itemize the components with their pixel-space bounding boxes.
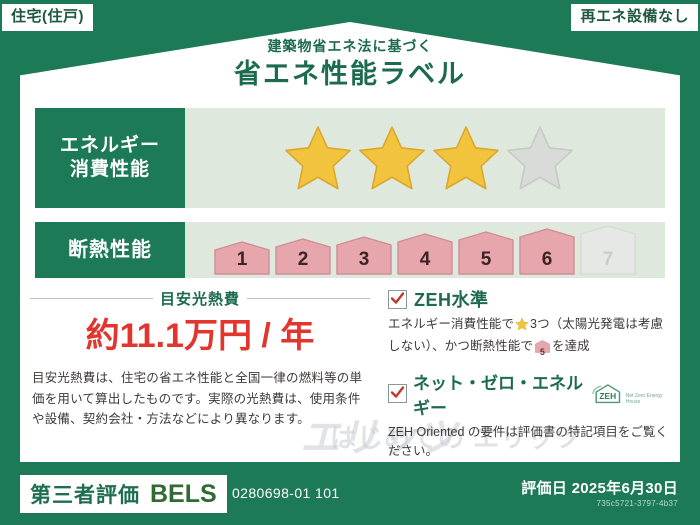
insulation-level-number: 6 [517, 249, 577, 271]
star-icon-filled [282, 123, 354, 193]
insulation-level-number: 1 [212, 249, 272, 271]
insulation-performance-label: 断熱性能 [35, 222, 185, 278]
star-icon-empty [504, 123, 576, 193]
building-type-tag: 住宅(住戸) [2, 4, 93, 31]
label-title: 建築物省エネ法に基づく 省エネ性能ラベル [0, 38, 700, 90]
insulation-performance-row: 断熱性能 1234567 [35, 222, 665, 278]
insulation-scale: 1234567 [185, 222, 665, 278]
insulation-level-number: 5 [456, 249, 516, 271]
zeh-logo-icon: ZEH Net Zero Energy House [591, 381, 670, 407]
evaluation-date: 評価日 2025年6月30日 [521, 477, 678, 498]
utility-cost-value: 約11.1万円 / 年 [30, 308, 370, 357]
bels-registration-number: 0280698-01 101 [232, 485, 340, 501]
zeh-logo-text: ZEH [600, 391, 617, 401]
energy-performance-label: エネルギー 消費性能 [35, 108, 185, 208]
utility-cost-heading-text: 目安光熱費 [160, 288, 240, 309]
inline-house-number: 5 [535, 346, 550, 360]
insulation-level-number: 2 [273, 249, 333, 271]
bels-jp-label: 第三者評価 [30, 479, 140, 509]
star-icon-filled [430, 123, 502, 193]
insulation-level-marker: 3 [334, 236, 394, 275]
energy-performance-row: エネルギー 消費性能 [35, 108, 665, 208]
insulation-level-number: 4 [395, 249, 455, 271]
zeh-logo-subtext: Net Zero Energy House [626, 394, 670, 407]
insulation-level-marker: 4 [395, 233, 455, 275]
insulation-house-row: 1234567 [212, 225, 638, 275]
energy-star-rating [185, 108, 665, 208]
zeh-standard-description: エネルギー消費性能で3つ（太陽光発電は考慮しない）、かつ断熱性能で5を達成 [388, 315, 670, 360]
star-icon-filled [356, 123, 428, 193]
evaluation-serial: 735c5721-3797-4b37 [597, 499, 678, 508]
renewable-equipment-tag: 再エネ設備なし [571, 4, 698, 31]
title-main: 省エネ性能ラベル [0, 59, 700, 90]
energy-performance-label: 住宅(住戸) 再エネ設備なし 建築物省エネ法に基づく 省エネ性能ラベル エネルギ… [0, 0, 700, 525]
star-icon-inline [515, 317, 529, 337]
insulation-level-marker: 7 [578, 225, 638, 275]
insulation-house-icon-inline: 5 [535, 340, 550, 359]
zeh-standard-row: ZEH水準 [388, 286, 670, 312]
insulation-level-number: 7 [578, 249, 638, 271]
zeh-desc-part-c: を達成 [552, 339, 590, 353]
footer-bar: 第三者評価 BELS 0280698-01 101 評価日 2025年6月30日… [0, 467, 700, 525]
zeh-section: ZEH水準 エネルギー消費性能で3つ（太陽光発電は考慮しない）、かつ断熱性能で5… [388, 286, 670, 462]
title-subtitle: 建築物省エネ法に基づく [0, 38, 700, 55]
divider-left [30, 298, 153, 299]
bels-en-label: BELS [150, 480, 217, 509]
net-zero-energy-label: ネット・ゼロ・エネルギー [413, 369, 585, 419]
zeh-oriented-footnote: ZEH Oriented の要件は評価書の特記項目をご覧ください。 [388, 423, 670, 462]
divider-right [247, 298, 370, 299]
insulation-level-marker: 6 [517, 228, 577, 275]
zeh-standard-label: ZEH水準 [414, 286, 489, 312]
zeh-desc-part-a: エネルギー消費性能で [388, 317, 514, 331]
utility-cost-note: 目安光熱費は、住宅の省エネ性能と全国一律の燃料等の単価を用いて算出したものです。… [32, 368, 368, 430]
insulation-label-text: 断熱性能 [68, 238, 152, 263]
insulation-level-marker: 2 [273, 238, 333, 275]
insulation-level-marker: 5 [456, 231, 516, 275]
insulation-level-marker: 1 [212, 241, 272, 275]
checkbox-checked-icon [388, 290, 407, 309]
net-zero-energy-row: ネット・ゼロ・エネルギー ZEH Net Zero Energy House [388, 369, 670, 419]
energy-label-line1: エネルギー [60, 134, 160, 158]
energy-label-line2: 消費性能 [70, 158, 150, 182]
bels-logo-box: 第三者評価 BELS [20, 475, 227, 513]
checkbox-checked-icon-2 [388, 384, 407, 403]
insulation-level-number: 3 [334, 249, 394, 271]
utility-cost-heading: 目安光熱費 [30, 288, 370, 309]
